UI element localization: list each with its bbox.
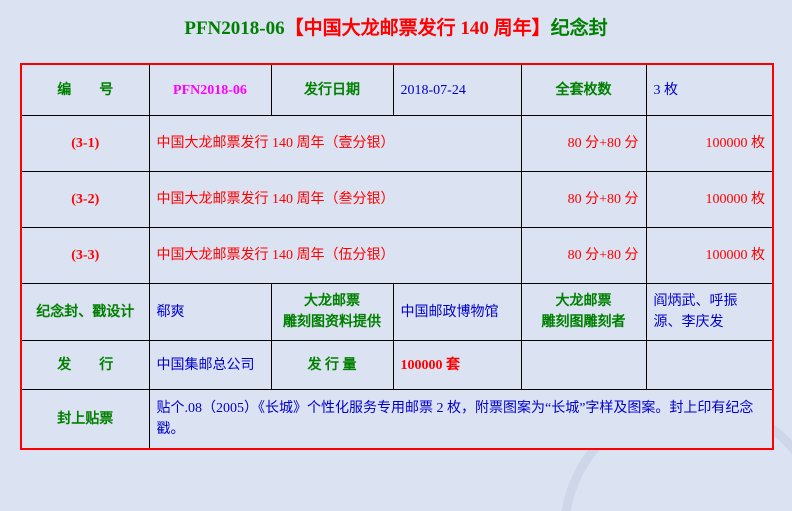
cell-item-name: 中国大龙邮票发行 140 周年（叁分银） [149, 172, 521, 228]
cell-item-no: (3-3) [21, 228, 149, 284]
table-row-design: 纪念封、戳设计 郗爽 大龙邮票 雕刻图资料提供 中国邮政博物馆 大龙邮票 雕刻图… [21, 284, 773, 341]
cell-label-source: 大龙邮票 雕刻图资料提供 [271, 284, 393, 341]
cell-empty [646, 341, 773, 390]
cell-item-no: (3-2) [21, 172, 149, 228]
title-bracket: 【中国大龙邮票发行 140 周年】 [285, 18, 551, 39]
cell-label-source-line2: 雕刻图资料提供 [279, 312, 386, 333]
table-row: (3-1) 中国大龙邮票发行 140 周年（壹分银） 80 分+80 分 100… [21, 116, 773, 172]
cell-value-stamp: 贴个.08（2005）《长城》个性化服务专用邮票 2 枚，附票图案为“长城”字样… [149, 390, 773, 450]
cell-label-source-line1: 大龙邮票 [279, 291, 386, 312]
cell-label-stamp: 封上贴票 [21, 390, 149, 450]
cell-label-code: 编 号 [21, 64, 149, 116]
page-title: PFN2018-06【中国大龙邮票发行 140 周年】纪念封 [0, 16, 792, 42]
cell-label-issuer: 发 行 [21, 341, 149, 390]
cell-item-quantity: 100000 枚 [646, 116, 773, 172]
cell-value-volume: 100000 套 [393, 341, 521, 390]
cell-item-name: 中国大龙邮票发行 140 周年（壹分银） [149, 116, 521, 172]
cell-item-face: 80 分+80 分 [521, 172, 646, 228]
cell-value-date: 2018-07-24 [393, 64, 521, 116]
cell-value-source: 中国邮政博物馆 [393, 284, 521, 341]
title-suffix: 纪念封 [551, 18, 608, 39]
cell-label-engraver: 大龙邮票 雕刻图雕刻者 [521, 284, 646, 341]
cell-item-face: 80 分+80 分 [521, 228, 646, 284]
cell-item-face: 80 分+80 分 [521, 116, 646, 172]
title-code: PFN2018-06 [184, 18, 284, 39]
cell-label-volume: 发 行 量 [271, 341, 393, 390]
cell-label-engraver-line2: 雕刻图雕刻者 [529, 312, 639, 333]
table-row: (3-2) 中国大龙邮票发行 140 周年（叁分银） 80 分+80 分 100… [21, 172, 773, 228]
stamp-spec-table: 编 号 PFN2018-06 发行日期 2018-07-24 全套枚数 3 枚 … [20, 63, 774, 450]
table-row-stamp: 封上贴票 贴个.08（2005）《长城》个性化服务专用邮票 2 枚，附票图案为“… [21, 390, 773, 450]
cell-empty [521, 341, 646, 390]
table-row-issue: 发 行 中国集邮总公司 发 行 量 100000 套 [21, 341, 773, 390]
cell-label-date: 发行日期 [271, 64, 393, 116]
cell-label-engraver-line1: 大龙邮票 [529, 291, 639, 312]
table-row-header: 编 号 PFN2018-06 发行日期 2018-07-24 全套枚数 3 枚 [21, 64, 773, 116]
cell-value-count: 3 枚 [646, 64, 773, 116]
cell-item-name: 中国大龙邮票发行 140 周年（伍分银） [149, 228, 521, 284]
cell-item-quantity: 100000 枚 [646, 228, 773, 284]
cell-value-design: 郗爽 [149, 284, 271, 341]
cell-item-quantity: 100000 枚 [646, 172, 773, 228]
cell-item-no: (3-1) [21, 116, 149, 172]
cell-value-engraver: 阎炳武、呼振源、李庆发 [646, 284, 773, 341]
table-row: (3-3) 中国大龙邮票发行 140 周年（伍分银） 80 分+80 分 100… [21, 228, 773, 284]
cell-value-issuer: 中国集邮总公司 [149, 341, 271, 390]
cell-value-code: PFN2018-06 [149, 64, 271, 116]
cell-label-count: 全套枚数 [521, 64, 646, 116]
cell-label-design: 纪念封、戳设计 [21, 284, 149, 341]
